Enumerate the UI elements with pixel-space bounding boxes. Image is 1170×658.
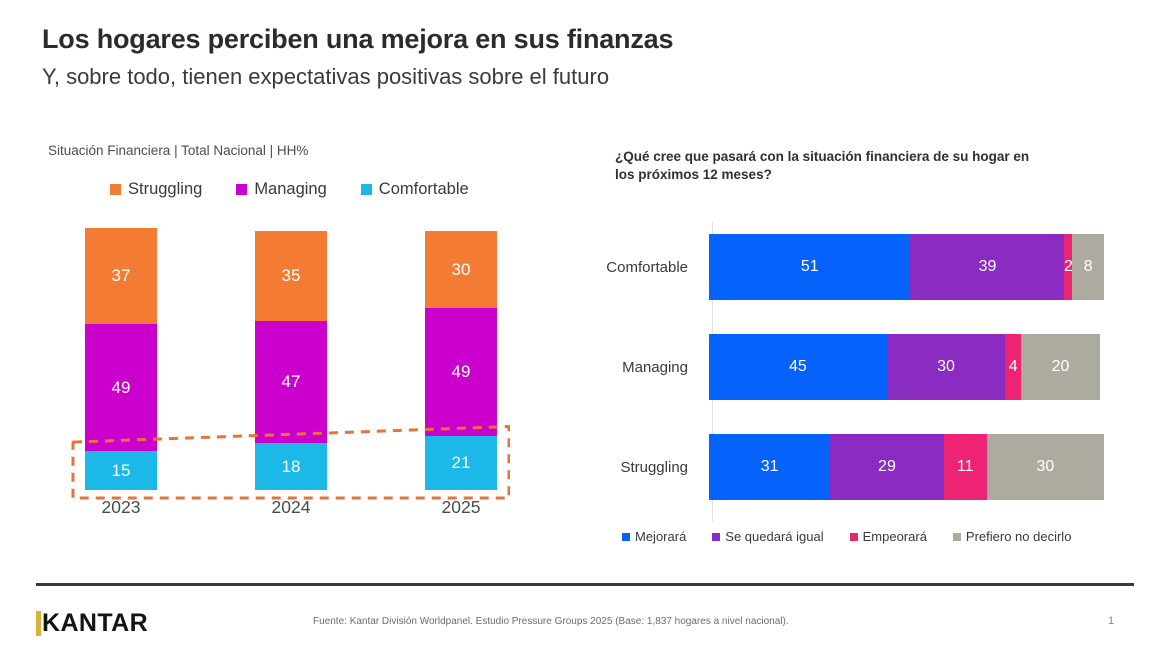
right-chart-plot-area: Comfortable513928Managing4530420Struggli…: [600, 222, 1120, 522]
bar-row-label-comfortable: Comfortable: [600, 259, 704, 276]
column-group-2024[interactable]: 354718: [255, 228, 327, 490]
column-group-2025[interactable]: 304921: [425, 228, 497, 490]
bar-track: 513928: [709, 234, 1104, 300]
bar-segment-empeorará[interactable]: 4: [1005, 334, 1021, 400]
right-chart-legend: Mejorará Se quedará igual Empeorará Pref…: [622, 529, 1071, 544]
column-segment-struggling[interactable]: 35: [255, 231, 327, 322]
column-segment-comfortable[interactable]: 15: [85, 451, 157, 490]
legend-item-prefiero-no-decirlo[interactable]: Prefiero no decirlo: [953, 529, 1072, 544]
column-segment-struggling[interactable]: 30: [425, 231, 497, 309]
legend-swatch-prefiero-no-decirlo: [953, 533, 961, 541]
legend-swatch-se-quedara-igual: [712, 533, 720, 541]
bar-segment-prefiero-no-decirlo[interactable]: 30: [987, 434, 1104, 500]
left-chart-caption: Situación Financiera | Total Nacional | …: [48, 143, 308, 158]
x-axis-label-2025: 2025: [425, 497, 497, 518]
legend-label-prefiero-no-decirlo: Prefiero no decirlo: [966, 529, 1072, 544]
bar-segment-prefiero-no-decirlo[interactable]: 8: [1072, 234, 1104, 300]
kantar-logo: KANTAR: [36, 608, 148, 636]
x-axis-label-2024: 2024: [255, 497, 327, 518]
bar-segment-se-quedará-igual[interactable]: 29: [830, 434, 943, 500]
right-chart-panel: ¿Qué cree que pasará con la situación fi…: [600, 130, 1160, 560]
bar-segment-se-quedará-igual[interactable]: 39: [910, 234, 1064, 300]
left-chart-panel: Situación Financiera | Total Nacional | …: [0, 130, 560, 560]
column-segment-managing[interactable]: 49: [425, 308, 497, 435]
bar-row-managing[interactable]: Managing4530420: [600, 334, 1120, 400]
bar-segment-se-quedará-igual[interactable]: 30: [887, 334, 1006, 400]
legend-item-mejorara[interactable]: Mejorará: [622, 529, 686, 544]
legend-swatch-mejorara: [622, 533, 630, 541]
legend-item-se-quedara-igual[interactable]: Se quedará igual: [712, 529, 823, 544]
column-segment-comfortable[interactable]: 18: [255, 443, 327, 490]
bar-segment-mejorará[interactable]: 45: [709, 334, 887, 400]
legend-label-struggling: Struggling: [128, 180, 202, 199]
footer-divider: [36, 583, 1134, 586]
legend-label-mejorara: Mejorará: [635, 529, 686, 544]
legend-swatch-struggling: [110, 184, 121, 195]
legend-item-empeorara[interactable]: Empeorará: [850, 529, 927, 544]
column-segment-managing[interactable]: 49: [85, 324, 157, 451]
page-number: 1: [1108, 615, 1114, 627]
bar-row-label-managing: Managing: [600, 359, 704, 376]
column-segment-managing[interactable]: 47: [255, 321, 327, 443]
source-note: Fuente: Kantar División Worldpanel. Estu…: [313, 616, 789, 627]
bar-row-comfortable[interactable]: Comfortable513928: [600, 234, 1120, 300]
page-subtitle: Y, sobre todo, tienen expectativas posit…: [42, 64, 609, 90]
legend-label-empeorara: Empeorará: [863, 529, 927, 544]
left-chart-plot-area: 374915202335471820243049212025: [60, 228, 510, 518]
bar-segment-mejorará[interactable]: 51: [709, 234, 910, 300]
legend-item-managing[interactable]: Managing: [236, 180, 326, 199]
bar-track: 4530420: [709, 334, 1104, 400]
column-segment-struggling[interactable]: 37: [85, 228, 157, 324]
legend-swatch-managing: [236, 184, 247, 195]
kantar-logo-accent-bar: [36, 611, 41, 636]
legend-label-se-quedara-igual: Se quedará igual: [725, 529, 823, 544]
left-chart-legend: Struggling Managing Comfortable: [110, 180, 469, 199]
bar-row-label-struggling: Struggling: [600, 459, 704, 476]
legend-swatch-empeorara: [850, 533, 858, 541]
column-group-2023[interactable]: 374915: [85, 228, 157, 490]
bar-track: 31291130: [709, 434, 1104, 500]
legend-label-comfortable: Comfortable: [379, 180, 469, 199]
page-title: Los hogares perciben una mejora en sus f…: [42, 24, 673, 55]
bar-segment-empeorará[interactable]: 2: [1064, 234, 1072, 300]
right-chart-question: ¿Qué cree que pasará con la situación fi…: [615, 148, 1035, 184]
bar-segment-mejorará[interactable]: 31: [709, 434, 830, 500]
bar-segment-prefiero-no-decirlo[interactable]: 20: [1021, 334, 1100, 400]
bar-segment-empeorará[interactable]: 11: [944, 434, 987, 500]
legend-item-struggling[interactable]: Struggling: [110, 180, 202, 199]
legend-item-comfortable[interactable]: Comfortable: [361, 180, 469, 199]
x-axis-label-2023: 2023: [85, 497, 157, 518]
kantar-logo-text: KANTAR: [42, 611, 148, 636]
column-segment-comfortable[interactable]: 21: [425, 436, 497, 490]
legend-swatch-comfortable: [361, 184, 372, 195]
legend-label-managing: Managing: [254, 180, 326, 199]
bar-row-struggling[interactable]: Struggling31291130: [600, 434, 1120, 500]
